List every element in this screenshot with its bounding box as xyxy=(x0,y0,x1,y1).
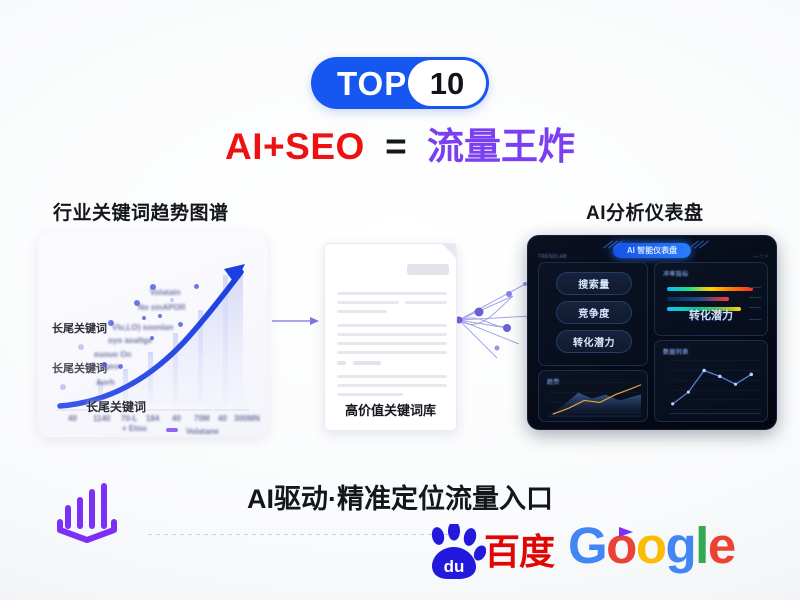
metric-pills-panel: 搜索量 竞争度 转化潜力 xyxy=(538,262,648,366)
right-section-heading: AI分析仪表盘 xyxy=(586,198,704,225)
trend-keyword-label-3: 长尾关键词 xyxy=(86,398,146,415)
play-arrow-icon xyxy=(617,525,635,539)
doc-header-block xyxy=(407,264,449,275)
doc-card-caption: 高价值关键词库 xyxy=(325,400,456,419)
trend-dot xyxy=(108,320,114,326)
trend-dot xyxy=(60,384,66,390)
pill-conversion-potential[interactable]: 转化潜力 xyxy=(556,330,632,353)
area-chart-svg xyxy=(539,371,647,422)
keyword-library-document: 高价值关键词库 xyxy=(324,243,457,431)
trend-dot xyxy=(150,336,154,340)
gauge-bar-2 xyxy=(667,297,729,301)
ai-dashboard: AI 智能仪表盘 TRENDLAB — □ × 搜索量 竞争度 转化潜力 趋势 xyxy=(527,235,777,430)
trend-keyword-label-1: 长尾关键词 xyxy=(52,320,107,336)
page-title: AI+SEO = 流量王炸 xyxy=(0,126,800,169)
trend-axis-tick-6: 70M xyxy=(194,414,210,423)
baidu-logo: du 百度 xyxy=(424,524,564,582)
trend-legend-label: Volatane xyxy=(186,427,219,436)
google-letter-e: e xyxy=(708,520,735,571)
baidu-wordmark: 百度 xyxy=(484,534,554,570)
top-rank-badge: TOP 10 xyxy=(311,57,489,109)
dashed-divider xyxy=(148,534,448,535)
trend-dot xyxy=(170,298,174,302)
flow-arrow-left xyxy=(272,316,320,326)
dashboard-deco-left xyxy=(602,244,620,252)
node-network-connector xyxy=(457,272,535,364)
trend-axis-tick-4: 184 xyxy=(146,414,159,423)
trend-blur-text-5: euouo On xyxy=(94,350,131,359)
trend-axis-tick-8: 300MN xyxy=(234,414,260,423)
trend-dot xyxy=(134,300,140,306)
trend-blur-text-4: oyo aoaltge xyxy=(108,336,152,345)
dashboard-brand-label: TRENDLAB xyxy=(538,254,567,260)
baidu-du-text: du xyxy=(444,557,465,576)
title-traffic: 流量王炸 xyxy=(427,126,575,167)
pill-search-volume[interactable]: 搜索量 xyxy=(556,272,632,295)
google-letter-o2: o xyxy=(636,520,666,571)
google-letter-l: l xyxy=(695,520,708,571)
trend-axis-tick-7: 40 xyxy=(218,414,227,423)
google-logo: Google xyxy=(568,520,735,571)
baidu-paw-icon: du xyxy=(424,524,486,582)
conversion-potential-overlay: 转化潜力 xyxy=(655,307,767,323)
top-badge-number-pill: 10 xyxy=(408,60,486,106)
google-letter-g2: g xyxy=(665,520,695,571)
top-badge-word: TOP xyxy=(337,67,407,100)
trend-axis-tick-3: 70-L xyxy=(121,414,137,423)
trend-blur-text-7: Aorh xyxy=(96,378,115,387)
left-section-heading: 行业关键词趋势图谱 xyxy=(53,198,229,225)
trend-axis-caption: + Etou xyxy=(122,424,147,433)
keyword-trend-card: 长尾关键词 长尾关键词 长尾关键词 Volatain No sinAPOR Vl… xyxy=(38,232,268,437)
title-ai-seo: AI+SEO xyxy=(225,126,365,167)
page-fold-icon xyxy=(442,244,456,258)
dashboard-deco-right xyxy=(688,244,706,252)
gauge-bar-1 xyxy=(667,287,753,291)
google-letter-g1: G xyxy=(568,520,606,571)
dashboard-window-controls[interactable]: — □ × xyxy=(753,254,768,260)
trend-axis-tick-1: 40 xyxy=(68,414,77,423)
trend-dot xyxy=(194,284,199,289)
line-chart-panel: 数据列表 xyxy=(654,340,768,422)
pill-competition[interactable]: 竞争度 xyxy=(556,301,632,324)
dashboard-title-badge: AI 智能仪表盘 xyxy=(613,243,691,258)
area-chart-panel: 趋势 xyxy=(538,370,648,422)
trend-dot xyxy=(118,364,123,369)
analytics-bars-icon xyxy=(50,478,124,550)
line-chart-svg xyxy=(655,341,767,422)
trend-legend-swatch xyxy=(166,428,178,432)
trend-dot xyxy=(158,314,162,318)
title-equals: = xyxy=(385,126,407,167)
trend-blur-text-2: No sinAPOR xyxy=(138,303,186,312)
trend-dot xyxy=(78,344,84,350)
poster-canvas: TOP 10 AI+SEO = 流量王炸 行业关键词趋势图谱 AI分析仪表盘 xyxy=(0,0,800,600)
score-gauge-label: 冲率指标 xyxy=(663,269,689,278)
top-badge-number: 10 xyxy=(430,68,464,99)
trend-dot xyxy=(142,316,146,320)
trend-blur-text-3: Vlu,LO) soonlan xyxy=(112,323,173,332)
trend-axis-tick-2: 1140 xyxy=(93,414,110,423)
trend-axis-tick-5: 40 xyxy=(172,414,181,423)
score-gauge-panel: 冲率指标 转化潜力 xyxy=(654,262,768,336)
trend-dot xyxy=(150,284,156,290)
trend-dot xyxy=(178,322,183,327)
trend-dot xyxy=(102,362,107,367)
